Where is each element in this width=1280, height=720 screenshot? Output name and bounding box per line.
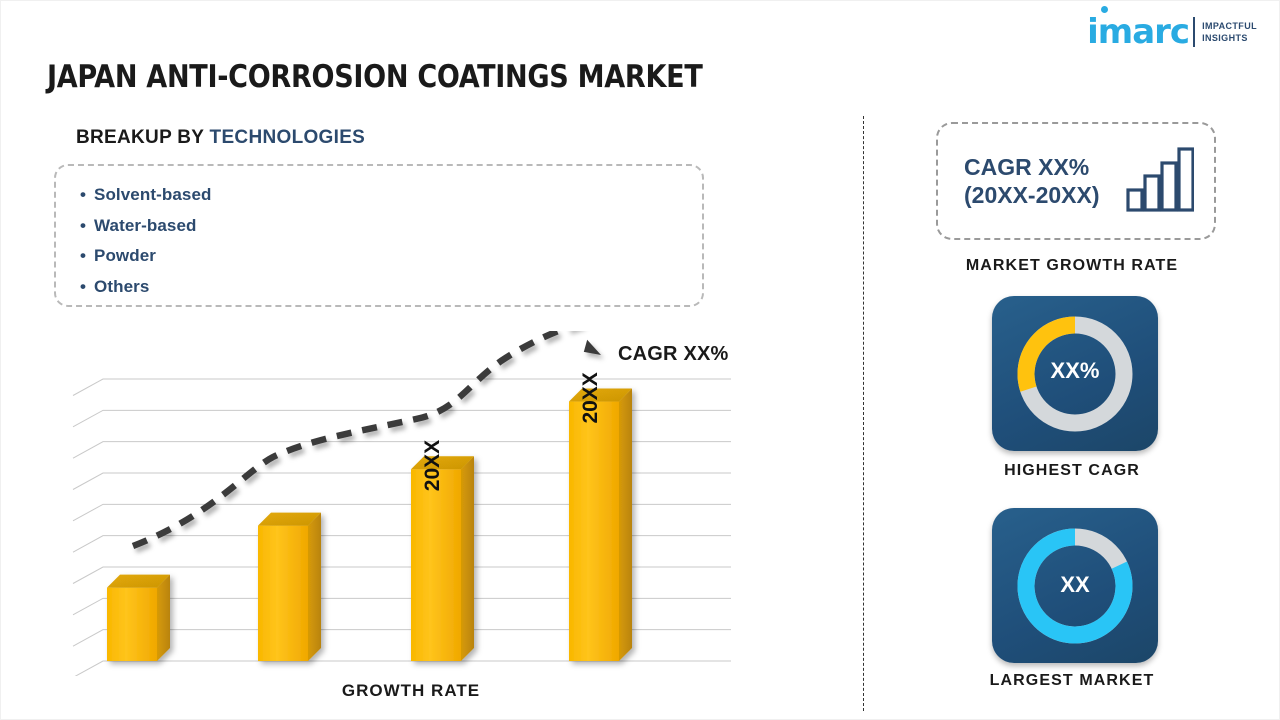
logo-divider <box>1193 17 1195 47</box>
bullet-icon: • <box>80 180 94 211</box>
list-item-label: Water-based <box>94 216 197 235</box>
list-item-label: Others <box>94 277 149 296</box>
chart-svg: 20XX20XX <box>61 331 761 676</box>
chart-x-axis-label: GROWTH RATE <box>61 681 761 701</box>
logo-tagline: IMPACTFUL INSIGHTS <box>1202 20 1257 44</box>
chart-bar <box>569 389 632 661</box>
bullet-icon: • <box>80 211 94 242</box>
list-item: •Solvent-based <box>80 180 702 211</box>
chart-bar-label: 20XX <box>579 372 602 423</box>
chart-cagr-annotation: CAGR XX% <box>618 343 729 366</box>
panel-divider <box>863 116 864 711</box>
breakup-list-box: •Solvent-based •Water-based •Powder •Oth… <box>54 164 704 307</box>
chart-bar <box>107 575 170 661</box>
highest-cagr-label: HIGHEST CAGR <box>863 462 1280 480</box>
list-item: •Others <box>80 272 702 303</box>
logo-wordmark: imarc <box>1087 15 1189 49</box>
highest-cagr-value: XX% <box>992 358 1158 384</box>
list-item-label: Powder <box>94 246 156 265</box>
logo-tagline-line1: IMPACTFUL <box>1202 20 1257 32</box>
largest-market-label: LARGEST MARKET <box>863 672 1280 690</box>
page-title: JAPAN ANTI-CORROSION COATINGS MARKET <box>47 59 702 95</box>
bar-chart-icon <box>1126 146 1194 212</box>
infographic-page: imarc IMPACTFUL INSIGHTS JAPAN ANTI-CORR… <box>0 0 1280 720</box>
market-growth-card: CAGR XX% (20XX-20XX) <box>936 122 1216 240</box>
cagr-line-1: CAGR XX% <box>964 153 1100 181</box>
highest-cagr-tile: XX% <box>992 296 1158 451</box>
trend-line <box>133 331 586 546</box>
breakup-heading-prefix: BREAKUP BY <box>76 127 204 148</box>
trend-arrow-icon <box>583 339 601 356</box>
breakup-heading: BREAKUP BY TECHNOLOGIES <box>76 127 365 149</box>
list-item-label: Solvent-based <box>94 185 212 204</box>
chart-bar <box>258 513 321 661</box>
bullet-icon: • <box>80 272 94 303</box>
imarc-logo: imarc IMPACTFUL INSIGHTS <box>1087 15 1257 49</box>
growth-rate-chart: 20XX20XX CAGR XX% GROWTH RATE <box>61 331 761 691</box>
largest-market-tile: XX <box>992 508 1158 663</box>
list-item: •Powder <box>80 241 702 272</box>
logo-text: imarc <box>1087 12 1189 52</box>
market-growth-value: CAGR XX% (20XX-20XX) <box>964 153 1100 209</box>
chart-bar-label: 20XX <box>421 440 444 491</box>
market-growth-rate-label: MARKET GROWTH RATE <box>863 257 1280 275</box>
cagr-line-2: (20XX-20XX) <box>964 181 1100 209</box>
logo-tagline-line2: INSIGHTS <box>1202 32 1257 44</box>
breakup-heading-highlight: TECHNOLOGIES <box>210 127 366 148</box>
list-item: •Water-based <box>80 211 702 242</box>
bullet-icon: • <box>80 241 94 272</box>
largest-market-value: XX <box>992 572 1158 598</box>
